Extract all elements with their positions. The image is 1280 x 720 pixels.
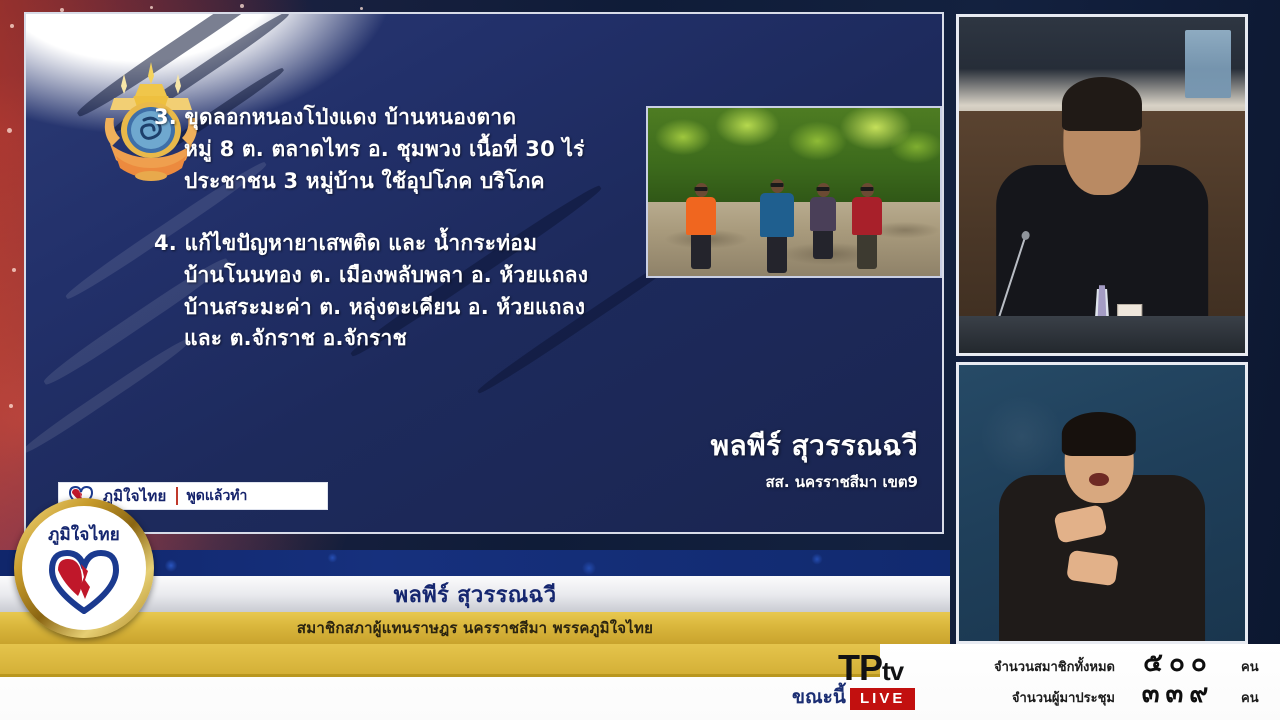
tally-row: จำนวนสมาชิกทั้งหมด ๕๐๐ คน <box>985 650 1275 677</box>
divider <box>176 487 178 505</box>
medallion-party-name: ภูมิใจไทย <box>48 521 120 548</box>
person-legs <box>691 235 711 269</box>
slide-line: 3. ขุดลอกหนองโป่งแดง บ้านหนองตาด <box>154 102 654 134</box>
bhumjaithai-heart-logo-icon <box>47 549 121 615</box>
slide-speaker-role: สส. นครราชสีมา เขต9 <box>711 470 918 494</box>
person-head <box>817 183 830 197</box>
tptv-logo: TPtv <box>838 650 903 686</box>
tptv-logo-sub: tv <box>882 656 903 686</box>
speaker-video-panel[interactable] <box>956 14 1248 356</box>
person-head <box>695 183 708 197</box>
person-head <box>771 179 784 193</box>
slide-speaker-name: พลพีร์ สุวรรณฉวี <box>711 424 918 468</box>
person-head <box>861 183 874 197</box>
tally-unit: คน <box>1241 656 1275 677</box>
slide-line: บ้านสระมะค่า ต. หลุ่งตะเคียน อ. ห้วยแถลง <box>154 292 654 324</box>
party-logo-medallion: ภูมิใจไทย <box>14 498 154 638</box>
sparkle-dot <box>10 24 14 28</box>
person-torso <box>760 193 794 237</box>
person-torso <box>810 197 836 231</box>
slide-photo <box>646 106 942 278</box>
sparkle-dot <box>360 7 363 10</box>
slide-body-text: 3. ขุดลอกหนองโป่งแดง บ้านหนองตาด หมู่ 8 … <box>154 102 654 355</box>
podium <box>959 316 1245 353</box>
tally-unit: คน <box>1241 687 1275 708</box>
photo-scene <box>648 108 940 276</box>
person-legs <box>767 237 787 273</box>
sparkle-dot <box>7 128 12 133</box>
photo-person <box>686 183 716 269</box>
bottom-gold-band <box>0 644 880 674</box>
person-face-mask <box>771 183 784 187</box>
slide-line: บ้านโนนทอง ต. เมืองพลับพลา อ. ห้วยแถลง <box>154 260 654 292</box>
tally-row: จำนวนผู้มาประชุม ๓๓๙ คน <box>985 681 1275 708</box>
slide-line: 4. แก้ไขปัญหายาเสพติด และ น้ำกระท่อม <box>154 228 654 260</box>
chamber-glass-pane <box>1185 30 1231 97</box>
slide-line: ประชาชน 3 หมู่บ้าน ใช้อุปโภค บริโภค <box>154 166 654 198</box>
bottom-gold-edge <box>0 674 880 677</box>
sparkle-dot <box>9 404 13 408</box>
lower-third-name: พลพีร์ สุวรรณฉวี <box>394 577 557 612</box>
photo-person <box>810 183 836 259</box>
live-badge: LIVE <box>850 688 915 710</box>
slide-line: และ ต.จักราช อ.จักราช <box>154 323 654 355</box>
presentation-slide: 3. ขุดลอกหนองโป่งแดง บ้านหนองตาด หมู่ 8 … <box>24 12 944 534</box>
tally-value: ๕๐๐ <box>1115 650 1241 676</box>
interpreter-mouth <box>1089 473 1109 487</box>
slide-item-4: 4. แก้ไขปัญหายาเสพติด และ น้ำกระท่อม บ้า… <box>154 228 654 356</box>
bottom-info-strip: TPtv ขณะนี้ LIVE จำนวนสมาชิกทั้งหมด ๕๐๐ … <box>0 644 1280 720</box>
person-face-mask <box>695 187 708 191</box>
broadcast-branding: TPtv ขณะนี้ LIVE <box>792 648 977 714</box>
sparkle-dot <box>150 6 153 9</box>
speaker-hair <box>1062 77 1142 131</box>
sparkle-dot <box>12 268 16 272</box>
lower-third-role: สมาชิกสภาผู้แทนราษฎร นครราชสีมา พรรคภูมิ… <box>297 616 653 640</box>
person-face-mask <box>861 187 874 191</box>
party-slogan-label: พูดแล้วทำ <box>187 485 248 507</box>
person-torso <box>852 197 882 235</box>
sign-language-interpreter-panel[interactable] <box>956 362 1248 644</box>
slide-line: หมู่ 8 ต. ตลาดไทร อ. ชุมพวง เนื้อที่ 30 … <box>154 134 654 166</box>
sparkle-dot <box>240 4 244 8</box>
party-logo-inner: ภูมิใจไทย <box>22 506 146 630</box>
person-torso <box>686 197 716 235</box>
slide-speaker-credit: พลพีร์ สุวรรณฉวี สส. นครราชสีมา เขต9 <box>711 424 918 494</box>
slide-item-3: 3. ขุดลอกหนองโป่งแดง บ้านหนองตาด หมู่ 8 … <box>154 102 654 198</box>
tally-label: จำนวนผู้มาประชุม <box>985 687 1115 708</box>
tally-label: จำนวนสมาชิกทั้งหมด <box>985 656 1115 677</box>
tally-value: ๓๓๙ <box>1115 681 1241 707</box>
interpreter-hair <box>1062 412 1136 456</box>
person-face-mask <box>817 187 830 191</box>
photo-person <box>852 183 882 269</box>
person-legs <box>813 231 833 259</box>
now-playing-label: ขณะนี้ <box>792 682 846 712</box>
lower-third-role-band: สมาชิกสภาผู้แทนราษฎร นครราชสีมา พรรคภูมิ… <box>0 612 950 644</box>
person-legs <box>857 235 877 269</box>
photo-person <box>760 179 794 273</box>
attendance-tally: จำนวนสมาชิกทั้งหมด ๕๐๐ คน จำนวนผู้มาประช… <box>985 650 1275 712</box>
